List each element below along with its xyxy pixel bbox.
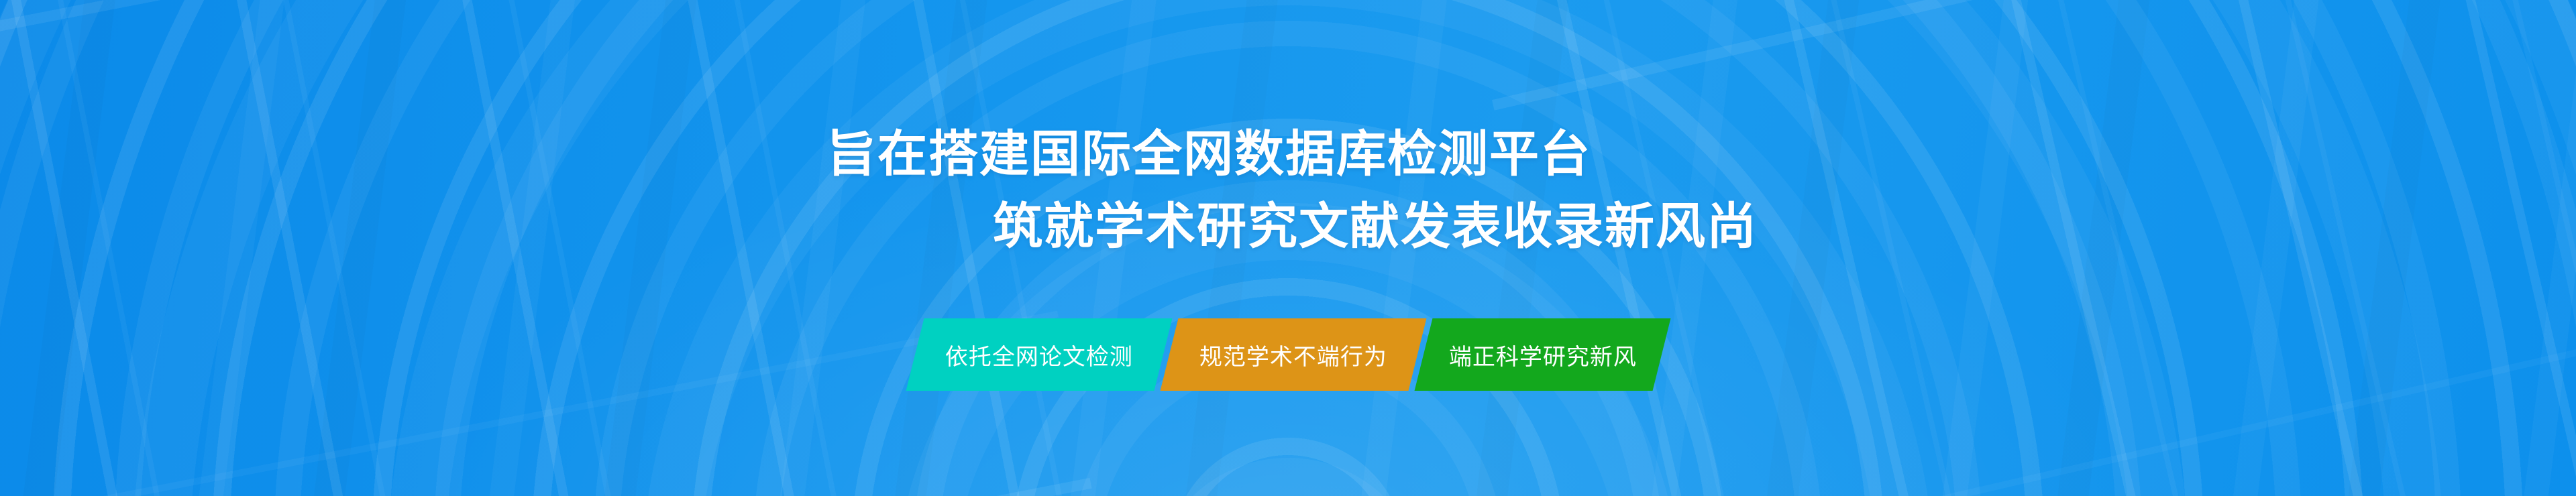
headline-line-1: 旨在搭建国际全网数据库检测平台 [0,118,2497,190]
badge-label-2: 规范学术不端行为 [1199,338,1387,371]
headline-line-2: 筑就学术研究文献发表收录新风尚 [87,190,2576,263]
banner-hero: 旨在搭建国际全网数据库检测平台 筑就学术研究文献发表收录新风尚 依托全网论文检测… [0,0,2576,496]
banner-content: 旨在搭建国际全网数据库检测平台 筑就学术研究文献发表收录新风尚 依托全网论文检测… [0,0,2576,496]
badge-label-3: 端正科学研究新风 [1448,338,1636,371]
badge-label-1: 依托全网论文检测 [945,338,1133,371]
badge-gui-fan-xue-shu-bu-duan[interactable]: 规范学术不端行为 [1160,318,1426,391]
badge-duan-zheng-ke-xue-yan-jiu[interactable]: 端正科学研究新风 [1414,318,1670,391]
headline: 旨在搭建国际全网数据库检测平台 筑就学术研究文献发表收录新风尚 [0,118,2576,263]
feature-badge-strip: 依托全网论文检测 规范学术不端行为 端正科学研究新风 [0,318,2576,391]
badge-quan-wang-lun-wen-jian-ce[interactable]: 依托全网论文检测 [906,318,1172,391]
